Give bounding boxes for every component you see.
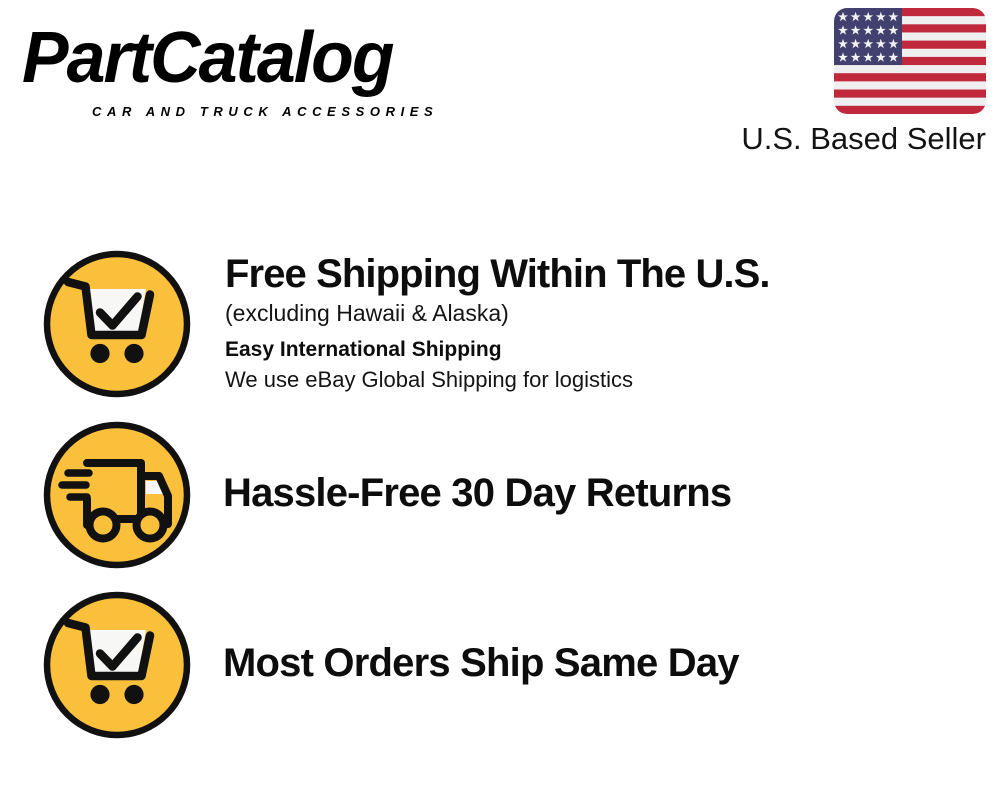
page-header: PartCatalog CAR AND TRUCK ACCESSORIES [0,0,1000,175]
feature-subheading: Easy International Shipping [225,336,1000,364]
brand-wordmark: PartCatalog [22,22,393,94]
us-based-seller-label: U.S. Based Seller [718,121,986,157]
delivery-truck-icon [42,420,190,568]
feature-row: Free Shipping Within The U.S. (excluding… [0,249,1000,399]
shopping-cart-check-icon [42,590,190,738]
feature-row: Hassle-Free 30 Day Returns [0,420,1000,568]
feature-subtext: (excluding Hawaii & Alaska) [225,297,1000,329]
brand-logo[interactable]: PartCatalog CAR AND TRUCK ACCESSORIES [22,22,492,112]
brand-tagline: CAR AND TRUCK ACCESSORIES [92,104,438,119]
feature-text-block: Hassle-Free 30 Day Returns [223,470,1000,518]
feature-text-block: Most Orders Ship Same Day [223,640,1000,688]
feature-note: We use eBay Global Shipping for logistic… [225,364,1000,395]
feature-title: Free Shipping Within The U.S. [225,251,1000,297]
feature-title: Hassle-Free 30 Day Returns [223,470,1000,516]
shopping-cart-check-icon [42,249,192,399]
us-based-seller-badge: U.S. Based Seller [718,8,986,157]
feature-text-block: Free Shipping Within The U.S. (excluding… [225,251,1000,397]
feature-title: Most Orders Ship Same Day [223,640,1000,686]
feature-row: Most Orders Ship Same Day [0,590,1000,738]
us-flag-icon [834,8,986,114]
